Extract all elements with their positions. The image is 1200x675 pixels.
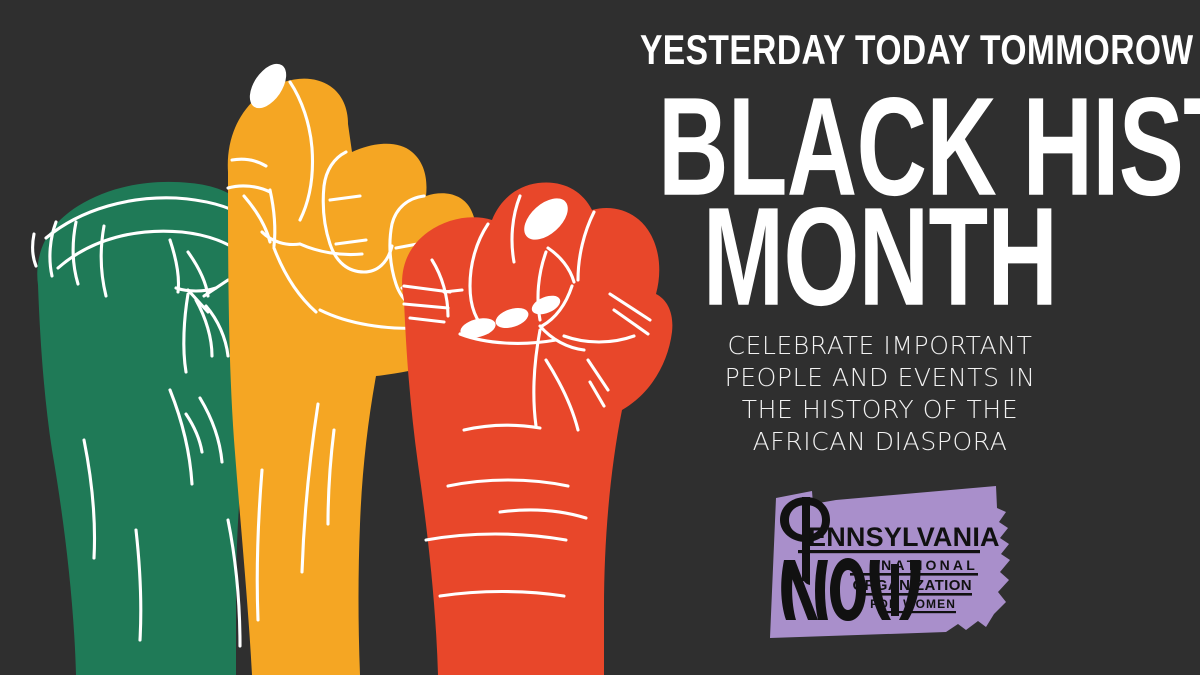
subcopy-line-2: PEOPLE AND EVENTS IN <box>630 362 1130 394</box>
poster-canvas: YESTERDAY TODAY TOMMOROW BLACK HISTORY M… <box>0 0 1200 675</box>
logo-wordmark: ENNSYLVANIA <box>808 522 1000 552</box>
subcopy-line-1: CELEBRATE IMPORTANT <box>630 330 1130 362</box>
headline-line-2: MONTH <box>658 194 1102 319</box>
tagline: YESTERDAY TODAY TOMMOROW <box>640 28 1120 72</box>
subcopy-line-4: AFRICAN DIASPORA <box>630 426 1130 458</box>
subcopy-line-3: THE HISTORY OF THE <box>630 394 1130 426</box>
text-column: YESTERDAY TODAY TOMMOROW BLACK HISTORY M… <box>580 0 1200 675</box>
subcopy-block: CELEBRATE IMPORTANT PEOPLE AND EVENTS IN… <box>630 330 1130 458</box>
pennsylvania-now-logo: ENNSYLVANIA NATIONAL ORGANIZATION FOR WO… <box>750 480 1020 645</box>
